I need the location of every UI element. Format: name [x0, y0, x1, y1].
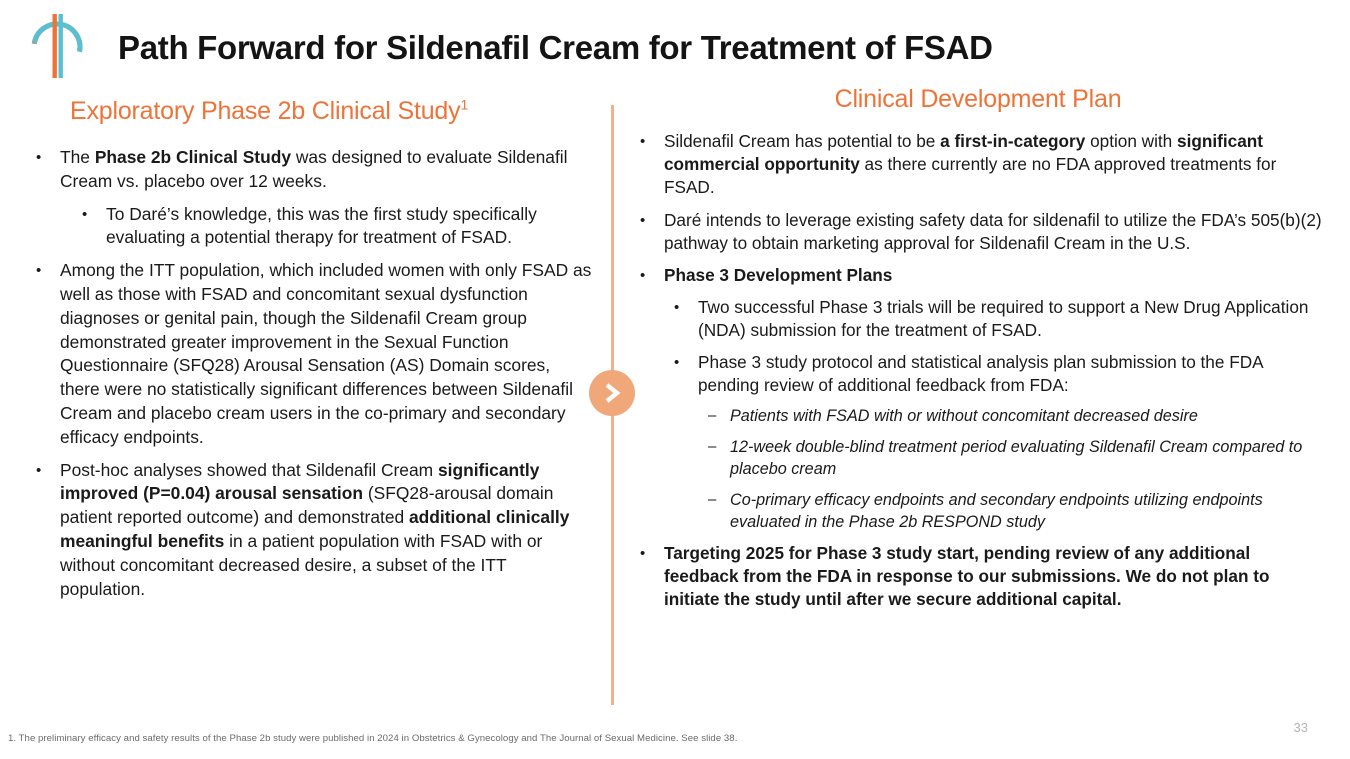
bullet-text: Targeting 2025 for Phase 3 study start, …	[664, 542, 1328, 612]
bullet-text: 12-week double-blind treatment period ev…	[730, 436, 1328, 481]
bullet-item: •Among the ITT population, which include…	[22, 259, 592, 449]
page-number: 33	[1294, 720, 1308, 735]
bullet-text: Post-hoc analyses showed that Sildenafil…	[60, 459, 592, 602]
left-column: Exploratory Phase 2b Clinical Study1 •Th…	[22, 96, 592, 610]
left-column-heading: Exploratory Phase 2b Clinical Study1	[22, 96, 592, 126]
text-run: Two successful Phase 3 trials will be re…	[698, 297, 1308, 340]
right-column-heading: Clinical Development Plan	[628, 84, 1328, 114]
bullet-item: –Patients with FSAD with or without conc…	[628, 405, 1328, 428]
footnote: 1. The preliminary efficacy and safety r…	[8, 733, 737, 744]
left-column-heading-superscript: 1	[460, 97, 468, 113]
bullet-text: Daré intends to leverage existing safety…	[664, 209, 1328, 255]
bold-run: a first-in-category	[940, 131, 1085, 151]
bullet-marker: •	[82, 203, 87, 227]
bullet-text: Two successful Phase 3 trials will be re…	[698, 296, 1328, 342]
bold-run: Targeting 2025 for Phase 3 study start, …	[664, 543, 1269, 609]
bullet-text: To Daré’s knowledge, this was the first …	[106, 203, 592, 251]
bullet-marker: •	[640, 130, 645, 153]
dare-bioscience-logo-icon	[26, 8, 88, 86]
bold-run: Phase 2b Clinical Study	[95, 147, 291, 167]
bullet-item: •To Daré’s knowledge, this was the first…	[22, 203, 592, 251]
text-run: The	[60, 147, 95, 167]
bullet-item: •Phase 3 study protocol and statistical …	[628, 351, 1328, 397]
text-run: 12-week double-blind treatment period ev…	[730, 438, 1302, 479]
dash-marker: –	[708, 405, 716, 428]
dash-marker: –	[708, 489, 716, 512]
right-column: Clinical Development Plan •Sildenafil Cr…	[628, 84, 1328, 621]
bullet-item: •Post-hoc analyses showed that Sildenafi…	[22, 459, 592, 602]
bullet-item: •Phase 3 Development Plans	[628, 264, 1328, 287]
bullet-marker: •	[36, 146, 41, 170]
text-run: Among the ITT population, which included…	[60, 260, 591, 447]
bullet-text: Phase 3 Development Plans	[664, 264, 1328, 287]
text-run: Post-hoc analyses showed that Sildenafil…	[60, 460, 438, 480]
bullet-marker: •	[640, 209, 645, 232]
dash-marker: –	[708, 436, 716, 459]
bullet-item: •Sildenafil Cream has potential to be a …	[628, 130, 1328, 200]
bullet-marker: •	[674, 351, 679, 374]
bullet-item: –Co-primary efficacy endpoints and secon…	[628, 489, 1328, 534]
bullet-text: Patients with FSAD with or without conco…	[730, 405, 1328, 428]
bullet-text: Co-primary efficacy endpoints and second…	[730, 489, 1328, 534]
text-run: Daré intends to leverage existing safety…	[664, 210, 1322, 253]
bullet-item: •Targeting 2025 for Phase 3 study start,…	[628, 542, 1328, 612]
bullet-text: Phase 3 study protocol and statistical a…	[698, 351, 1328, 397]
text-run: Phase 3 study protocol and statistical a…	[698, 352, 1263, 395]
bullet-text: The Phase 2b Clinical Study was designed…	[60, 146, 592, 194]
bullet-item: •The Phase 2b Clinical Study was designe…	[22, 146, 592, 194]
text-run: Sildenafil Cream has potential to be	[664, 131, 940, 151]
text-run: To Daré’s knowledge, this was the first …	[106, 204, 537, 248]
bullet-item: •Two successful Phase 3 trials will be r…	[628, 296, 1328, 342]
bullet-text: Among the ITT population, which included…	[60, 259, 592, 449]
slide-header: Path Forward for Sildenafil Cream for Tr…	[0, 0, 1350, 95]
left-bullet-list: •The Phase 2b Clinical Study was designe…	[22, 146, 592, 601]
bullet-marker: •	[36, 259, 41, 283]
bullet-item: •Daré intends to leverage existing safet…	[628, 209, 1328, 255]
page-title: Path Forward for Sildenafil Cream for Tr…	[118, 29, 993, 67]
right-bullet-list: •Sildenafil Cream has potential to be a …	[628, 130, 1328, 612]
bullet-text: Sildenafil Cream has potential to be a f…	[664, 130, 1328, 200]
bullet-marker: •	[640, 542, 645, 565]
bullet-marker: •	[640, 264, 645, 287]
bullet-marker: •	[36, 459, 41, 483]
text-run: Co-primary efficacy endpoints and second…	[730, 491, 1263, 532]
left-column-heading-text: Exploratory Phase 2b Clinical Study	[70, 97, 460, 125]
bold-run: Phase 3 Development Plans	[664, 265, 892, 285]
bullet-item: –12-week double-blind treatment period e…	[628, 436, 1328, 481]
text-run: option with	[1085, 131, 1177, 151]
text-run: Patients with FSAD with or without conco…	[730, 407, 1198, 425]
bullet-marker: •	[674, 296, 679, 319]
